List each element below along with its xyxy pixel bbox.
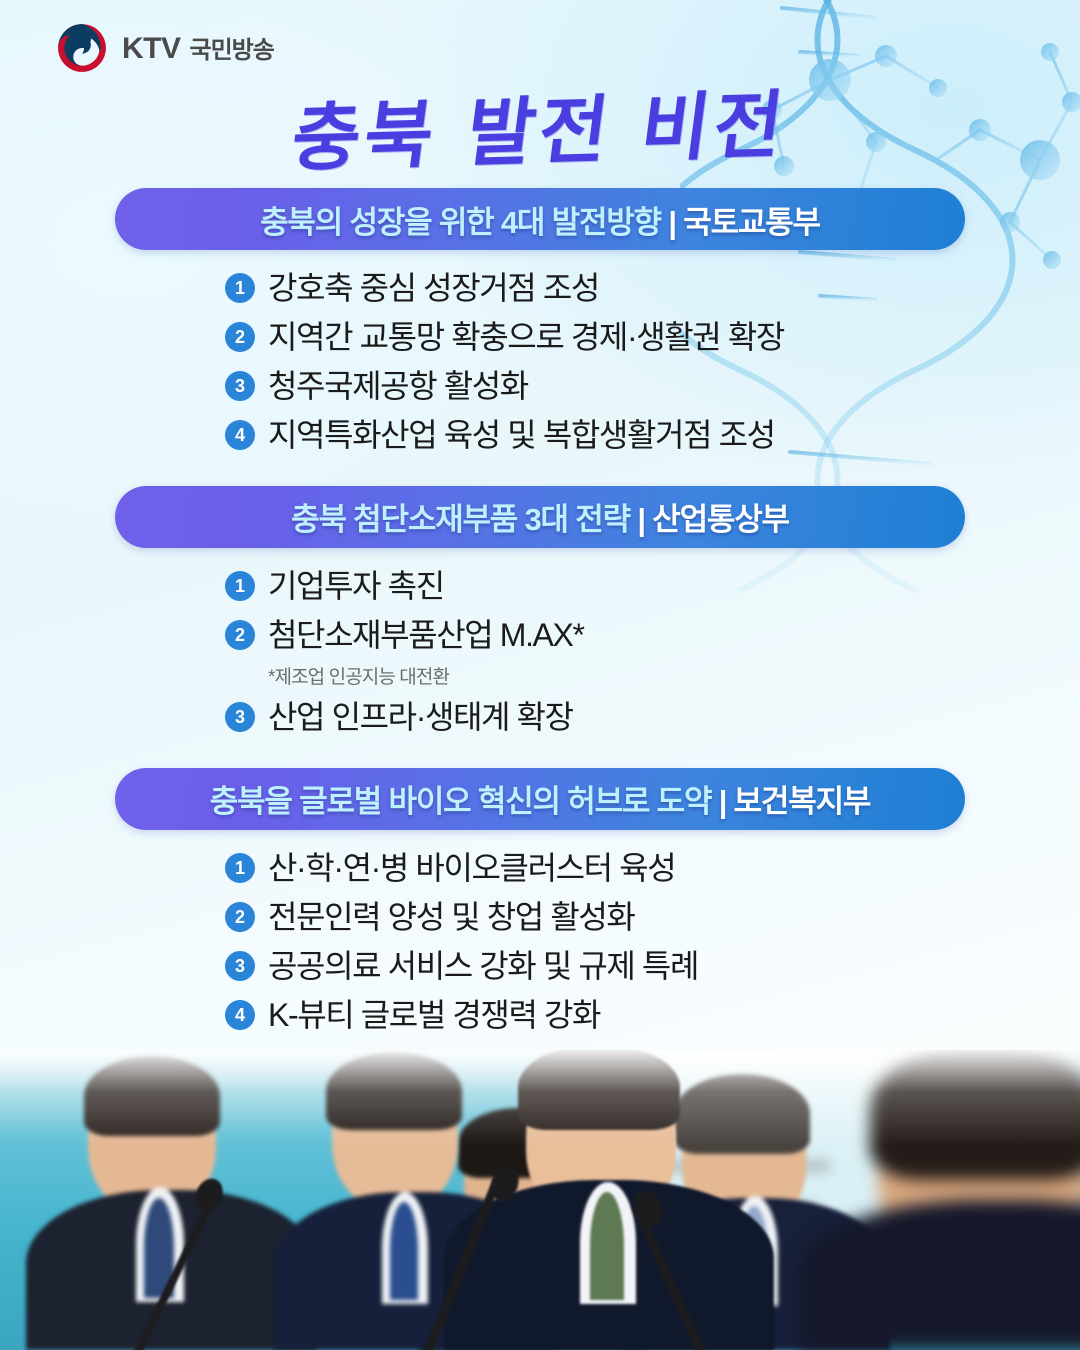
list-item: 1 기업투자 촉진	[225, 566, 1080, 607]
section-items-industry-cont: 3 산업 인프라·생태계 확장	[0, 697, 1080, 738]
list-item: 1 강호축 중심 성장거점 조성	[225, 268, 1080, 309]
list-item: 2 지역간 교통망 확충으로 경제·생활권 확장	[225, 317, 1080, 358]
item-label: 전문인력 양성 및 창업 활성화	[268, 897, 634, 938]
section-heading-separator: |	[668, 205, 675, 240]
item-label: 산업 인프라·생태계 확장	[268, 697, 573, 738]
item-number-badge: 3	[225, 702, 255, 732]
item-label: 지역특화산업 육성 및 복합생활거점 조성	[268, 415, 775, 456]
section-heading-separator: |	[637, 502, 644, 537]
sections-container: 충북의 성장을 위한 4대 발전방향 | 국토교통부 1 강호축 중심 성장거점…	[0, 188, 1080, 1065]
item-number-badge: 3	[225, 951, 255, 981]
item-label: 산·학·연·병 바이오클러스터 육성	[268, 848, 675, 889]
item-number-badge: 4	[225, 420, 255, 450]
section-bio: 충북을 글로벌 바이오 혁신의 허브로 도약 | 보건복지부 1 산·학·연·병…	[0, 768, 1080, 1036]
item-number-badge: 2	[225, 322, 255, 352]
item-number-badge: 1	[225, 273, 255, 303]
section-header-industry: 충북 첨단소재부품 3대 전략 | 산업통상부	[115, 486, 965, 548]
item-number-badge: 1	[225, 571, 255, 601]
list-item: 4 K-뷰티 글로벌 경쟁력 강화	[225, 995, 1080, 1036]
item-label: 첨단소재부품산업 M.AX*	[268, 615, 584, 656]
brand-name-en: KTV	[122, 32, 181, 66]
section-header-transport: 충북의 성장을 위한 4대 발전방향 | 국토교통부	[115, 188, 965, 250]
section-heading-ministry: 보건복지부	[734, 784, 871, 819]
list-item: 4 지역특화산업 육성 및 복합생활거점 조성	[225, 415, 1080, 456]
section-transport: 충북의 성장을 위한 4대 발전방향 | 국토교통부 1 강호축 중심 성장거점…	[0, 188, 1080, 456]
korea-government-taegeuk-icon	[56, 22, 108, 74]
item-label: 청주국제공항 활성화	[268, 366, 528, 407]
item-number-badge: 2	[225, 620, 255, 650]
item-label: K-뷰티 글로벌 경쟁력 강화	[268, 995, 600, 1036]
section-heading-main: 충북의 성장을 위한 4대 발전방향	[260, 205, 661, 240]
section-heading-ministry: 국토교통부	[683, 205, 820, 240]
section-heading-ministry: 산업통상부	[652, 502, 789, 537]
infographic-card: KTV 국민방송 충북 발전 비전 충북의 성장을 위한 4대 발전방향 | 국…	[0, 0, 1080, 1350]
list-item: 3 산업 인프라·생태계 확장	[225, 697, 1080, 738]
brand-logo: KTV 국민방송	[56, 22, 274, 74]
item-number-badge: 1	[225, 853, 255, 883]
brand-name-ko: 국민방송	[190, 30, 274, 65]
list-item: 3 청주국제공항 활성화	[225, 366, 1080, 407]
section-header-bio: 충북을 글로벌 바이오 혁신의 허브로 도약 | 보건복지부	[115, 768, 965, 830]
item-label: 강호축 중심 성장거점 조성	[268, 268, 599, 309]
section-items-bio: 1 산·학·연·병 바이오클러스터 육성 2 전문인력 양성 및 창업 활성화 …	[0, 848, 1080, 1036]
list-item: 2 전문인력 양성 및 창업 활성화	[225, 897, 1080, 938]
section-heading-main: 충북을 글로벌 바이오 혁신의 허브로 도약	[210, 784, 712, 819]
list-item: 1 산·학·연·병 바이오클러스터 육성	[225, 848, 1080, 889]
item-label: 기업투자 촉진	[268, 566, 444, 607]
list-item: 2 첨단소재부품산업 M.AX*	[225, 615, 1080, 656]
section-items-transport: 1 강호축 중심 성장거점 조성 2 지역간 교통망 확충으로 경제·생활권 확…	[0, 268, 1080, 456]
item-label: 지역간 교통망 확충으로 경제·생활권 확장	[268, 317, 784, 358]
press-conference-photo	[0, 1050, 1080, 1350]
page-title: 충북 발전 비전	[0, 72, 1080, 179]
section-industry: 충북 첨단소재부품 3대 전략 | 산업통상부 1 기업투자 촉진 2 첨단소재…	[0, 486, 1080, 738]
list-item: 3 공공의료 서비스 강화 및 규제 특례	[225, 946, 1080, 987]
section-items-industry: 1 기업투자 촉진 2 첨단소재부품산업 M.AX*	[0, 566, 1080, 656]
item-number-badge: 3	[225, 371, 255, 401]
section-heading-main: 충북 첨단소재부품 3대 전략	[291, 502, 630, 537]
page-title-text: 충북 발전 비전	[286, 65, 794, 186]
item-number-badge: 4	[225, 1000, 255, 1030]
section-heading-separator: |	[719, 784, 726, 819]
item-footnote: *제조업 인공지능 대전환	[268, 662, 1080, 689]
item-number-badge: 2	[225, 902, 255, 932]
item-label: 공공의료 서비스 강화 및 규제 특례	[268, 946, 698, 987]
